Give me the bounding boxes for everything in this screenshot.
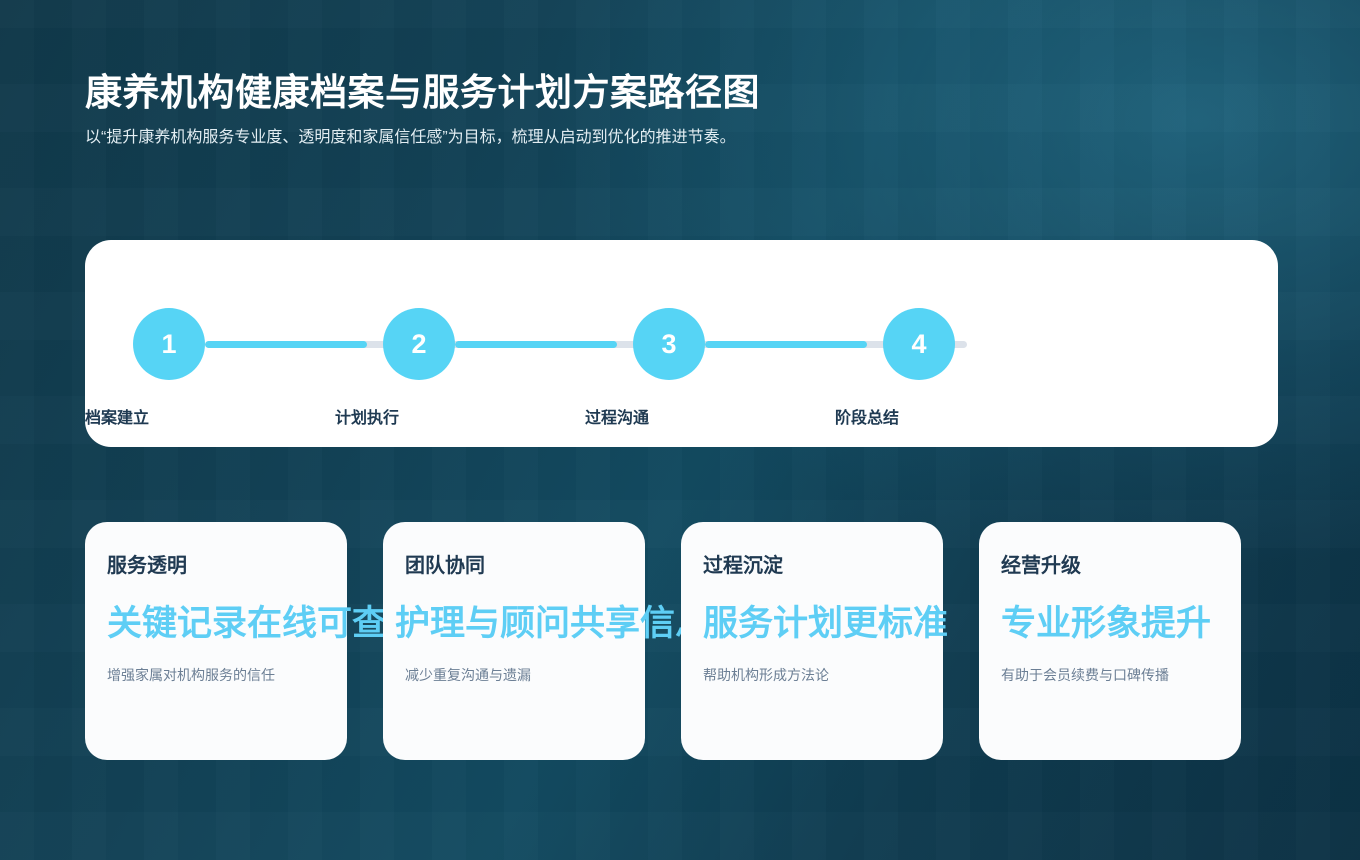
benefit-card-1[interactable]: 服务透明 关键记录在线可查 增强家属对机构服务的信任 — [85, 522, 347, 760]
benefit-card-description: 有助于会员续费与口碑传播 — [1001, 664, 1241, 686]
step-item-4[interactable]: 4 — [883, 308, 955, 380]
step-label-2: 计划执行 — [335, 404, 399, 428]
stepper-panel: 1 档案建立 2 计划执行 3 过程沟通 4 阶段总结 — [85, 240, 1278, 447]
step-label-4: 阶段总结 — [835, 404, 899, 428]
step-item-1[interactable]: 1 — [133, 308, 205, 380]
step-number-badge[interactable]: 1 — [133, 308, 205, 380]
step-connector-fill — [205, 341, 367, 348]
benefit-card-content: 经营升级 专业形象提升 有助于会员续费与口碑传播 — [1001, 552, 1241, 686]
benefit-card-kicker: 经营升级 — [1001, 552, 1241, 580]
step-number-badge[interactable]: 4 — [883, 308, 955, 380]
benefit-card-content: 服务透明 关键记录在线可查 增强家属对机构服务的信任 — [107, 552, 347, 686]
benefit-card-row: 服务透明 关键记录在线可查 增强家属对机构服务的信任 团队协同 护理与顾问共享信… — [85, 522, 1240, 760]
benefit-card-headline: 服务计划更标准 — [703, 602, 943, 646]
header: 康养机构健康档案与服务计划方案路径图 以“提升康养机构服务专业度、透明度和家属信… — [85, 70, 905, 151]
benefit-card-content: 过程沉淀 服务计划更标准 帮助机构形成方法论 — [703, 552, 943, 686]
benefit-card-headline: 关键记录在线可查 — [107, 602, 347, 646]
slide-canvas: 康养机构健康档案与服务计划方案路径图 以“提升康养机构服务专业度、透明度和家属信… — [0, 0, 1360, 860]
page-subtitle: 以“提升康养机构服务专业度、透明度和家属信任感”为目标，梳理从启动到优化的推进节… — [85, 124, 855, 151]
step-connector-fill — [455, 341, 617, 348]
step-connector-fill — [705, 341, 867, 348]
benefit-card-4[interactable]: 经营升级 专业形象提升 有助于会员续费与口碑传播 — [979, 522, 1241, 760]
benefit-card-kicker: 团队协同 — [405, 552, 645, 580]
page-title: 康养机构健康档案与服务计划方案路径图 — [85, 70, 905, 116]
benefit-card-headline: 专业形象提升 — [1001, 602, 1241, 646]
step-number-badge[interactable]: 2 — [383, 308, 455, 380]
stepper-rail: 1 档案建立 2 计划执行 3 过程沟通 4 阶段总结 — [133, 308, 1223, 380]
step-label-3: 过程沟通 — [585, 404, 649, 428]
benefit-card-description: 减少重复沟通与遗漏 — [405, 664, 645, 686]
benefit-card-2[interactable]: 团队协同 护理与顾问共享信息 减少重复沟通与遗漏 — [383, 522, 645, 760]
benefit-card-kicker: 过程沉淀 — [703, 552, 943, 580]
benefit-card-description: 增强家属对机构服务的信任 — [107, 664, 347, 686]
step-item-2[interactable]: 2 — [383, 308, 455, 380]
step-item-3[interactable]: 3 — [633, 308, 705, 380]
step-number-badge[interactable]: 3 — [633, 308, 705, 380]
benefit-card-headline: 护理与顾问共享信息 — [395, 602, 645, 646]
benefit-card-3[interactable]: 过程沉淀 服务计划更标准 帮助机构形成方法论 — [681, 522, 943, 760]
benefit-card-description: 帮助机构形成方法论 — [703, 664, 943, 686]
benefit-card-content: 团队协同 护理与顾问共享信息 减少重复沟通与遗漏 — [405, 552, 645, 686]
step-label-1: 档案建立 — [85, 404, 149, 428]
benefit-card-kicker: 服务透明 — [107, 552, 347, 580]
